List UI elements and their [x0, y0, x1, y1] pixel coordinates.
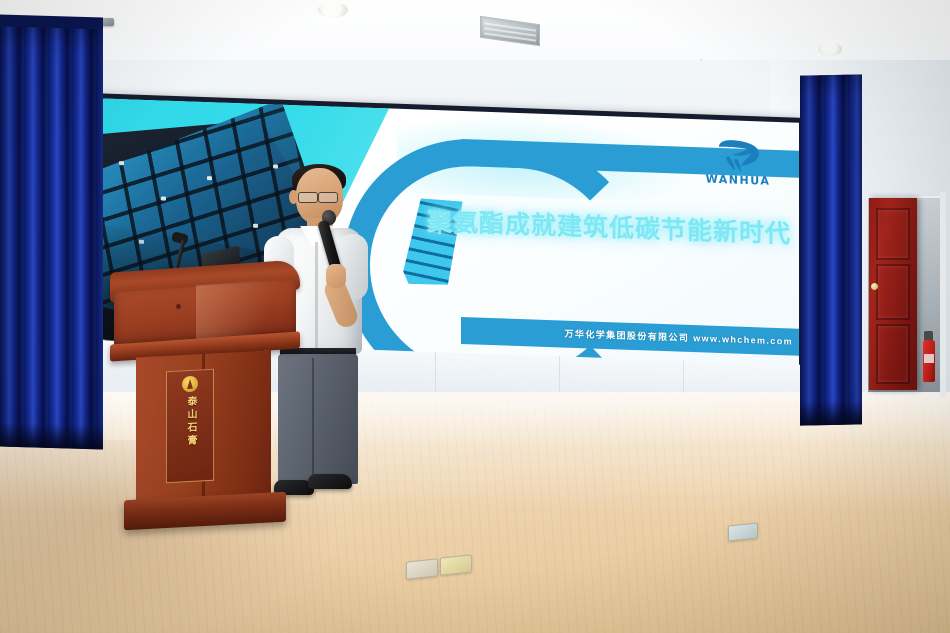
door-panel	[876, 324, 910, 384]
curtain-left	[0, 27, 103, 450]
ceiling-downlight	[318, 2, 348, 18]
wanhua-logo: WANHUA	[699, 137, 777, 196]
extinguisher-label	[924, 354, 934, 363]
door-frame	[940, 192, 946, 397]
fire-extinguisher	[923, 340, 935, 382]
speaking-podium: 泰山石膏	[110, 258, 300, 548]
glass-highlight	[161, 197, 166, 201]
shoe-right	[308, 474, 352, 489]
hand	[326, 264, 346, 288]
presentation-photo-scene: 万华化学集团股份有限公司 www.whchem.com 聚氨酯成就建筑低碳节能新…	[0, 0, 950, 633]
podium-screw	[176, 304, 181, 309]
floor-socket-cover	[440, 554, 472, 575]
wooden-door[interactable]	[869, 198, 917, 390]
shirt-placket	[315, 242, 318, 350]
ear	[289, 190, 298, 204]
podium-plaque: 泰山石膏	[166, 369, 214, 484]
floor-socket-cover	[406, 558, 438, 579]
eyeglasses-left-lens	[298, 192, 318, 203]
curtain-hem	[800, 400, 862, 425]
floor-socket-cover	[728, 522, 758, 541]
trouser-seam	[312, 358, 314, 476]
glass-highlight	[207, 176, 212, 180]
glass-highlight	[119, 161, 124, 165]
wanhua-wordmark: WANHUA	[699, 172, 777, 188]
door-panel	[876, 264, 910, 320]
door-handle-icon[interactable]	[871, 283, 878, 290]
wanhua-bird-icon	[713, 138, 763, 174]
curtain-hem	[0, 423, 103, 450]
curtain-right	[800, 74, 862, 425]
ceiling-downlight	[818, 42, 842, 56]
eyeglasses-right-lens	[318, 192, 338, 203]
taishan-gypsum-emblem-icon	[182, 376, 198, 393]
door-panel	[876, 208, 910, 260]
podium-plaque-text: 泰山石膏	[184, 396, 196, 449]
